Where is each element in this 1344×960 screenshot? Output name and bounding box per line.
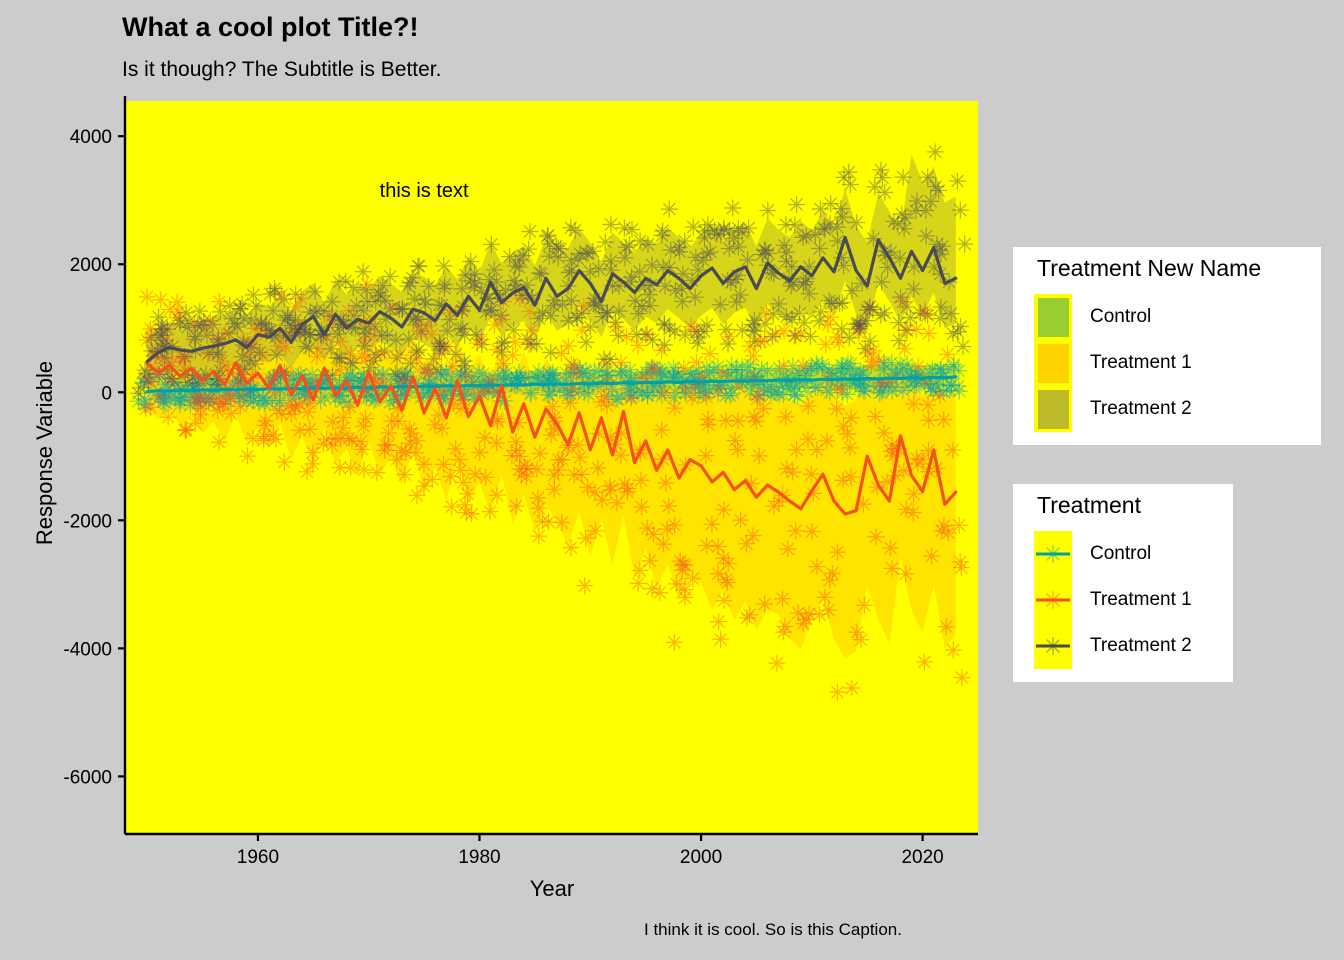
asterisk-point-icon xyxy=(410,341,427,358)
asterisk-point-icon xyxy=(518,468,535,485)
asterisk-point-icon xyxy=(488,434,505,451)
asterisk-point-icon xyxy=(641,552,658,569)
asterisk-point-icon xyxy=(248,298,265,315)
asterisk-point-icon xyxy=(714,365,731,382)
asterisk-point-icon xyxy=(867,408,884,425)
asterisk-point-icon xyxy=(562,219,579,236)
asterisk-point-icon xyxy=(368,464,385,481)
asterisk-point-icon xyxy=(848,214,865,231)
fill-legend[interactable]: Treatment New Name ControlTreatment 1Tre… xyxy=(1013,247,1321,445)
asterisk-point-icon xyxy=(812,303,829,320)
asterisk-point-icon xyxy=(413,323,430,340)
asterisk-point-icon xyxy=(396,466,413,483)
asterisk-point-icon xyxy=(357,325,374,342)
asterisk-point-icon xyxy=(594,491,611,508)
asterisk-point-icon xyxy=(541,236,558,253)
asterisk-point-icon xyxy=(856,597,873,614)
asterisk-point-icon xyxy=(764,328,781,345)
asterisk-point-icon xyxy=(569,251,586,268)
asterisk-point-icon xyxy=(332,333,349,350)
asterisk-point-icon xyxy=(939,346,956,363)
asterisk-point-icon xyxy=(530,528,547,545)
asterisk-point-icon xyxy=(287,286,304,303)
line-point-key-icon xyxy=(1034,577,1072,623)
fill-swatch-icon xyxy=(1038,390,1069,429)
asterisk-point-icon xyxy=(468,326,485,343)
asterisk-point-icon xyxy=(657,474,674,491)
asterisk-point-icon xyxy=(540,513,557,530)
asterisk-point-icon xyxy=(688,323,705,340)
asterisk-point-icon xyxy=(176,422,193,439)
asterisk-point-icon xyxy=(905,396,922,413)
asterisk-point-icon xyxy=(462,253,479,270)
asterisk-point-icon xyxy=(447,440,464,457)
line-point-key-icon xyxy=(1034,531,1072,577)
asterisk-point-icon xyxy=(951,517,968,534)
asterisk-point-icon xyxy=(397,444,414,461)
asterisk-point-icon xyxy=(511,259,528,276)
asterisk-point-icon xyxy=(251,344,268,361)
asterisk-point-icon xyxy=(675,556,692,573)
asterisk-point-icon xyxy=(872,161,889,178)
fill-legend-label: Control xyxy=(1090,306,1151,328)
asterisk-point-icon xyxy=(719,574,736,591)
asterisk-point-icon xyxy=(677,327,694,344)
asterisk-point-icon xyxy=(917,202,934,219)
asterisk-point-icon xyxy=(795,276,812,293)
asterisk-point-icon xyxy=(420,278,437,295)
asterisk-point-icon xyxy=(493,335,510,352)
asterisk-point-icon xyxy=(178,304,195,321)
asterisk-point-icon xyxy=(839,425,856,442)
y-axis-title: Response Variable xyxy=(32,293,58,613)
asterisk-point-icon xyxy=(599,304,616,321)
asterisk-point-icon xyxy=(822,215,839,232)
asterisk-point-icon xyxy=(873,274,890,291)
asterisk-point-icon xyxy=(355,418,372,435)
asterisk-point-icon xyxy=(597,234,614,251)
asterisk-point-icon xyxy=(439,322,456,339)
asterisk-point-icon xyxy=(721,222,738,239)
asterisk-point-icon xyxy=(802,328,819,345)
asterisk-point-icon xyxy=(786,216,803,233)
asterisk-point-icon xyxy=(715,592,732,609)
asterisk-point-icon xyxy=(824,565,841,582)
asterisk-point-icon xyxy=(580,386,597,403)
asterisk-point-icon xyxy=(477,469,494,486)
asterisk-point-icon xyxy=(766,498,783,515)
asterisk-point-icon xyxy=(795,357,812,374)
asterisk-point-icon xyxy=(834,294,851,311)
asterisk-point-icon xyxy=(602,253,619,270)
fill-legend-row[interactable]: Treatment 1 xyxy=(1034,340,1192,386)
asterisk-point-icon xyxy=(354,441,371,458)
asterisk-point-icon xyxy=(803,523,820,540)
asterisk-point-icon xyxy=(897,565,914,582)
asterisk-point-icon xyxy=(301,340,318,357)
asterisk-point-icon xyxy=(702,345,719,362)
asterisk-point-icon xyxy=(876,425,893,442)
colour-legend-label: Treatment 2 xyxy=(1090,635,1192,657)
asterisk-point-icon xyxy=(563,292,580,309)
asterisk-point-icon xyxy=(842,176,859,193)
asterisk-point-icon xyxy=(630,575,647,592)
asterisk-point-icon xyxy=(843,355,860,372)
asterisk-point-icon xyxy=(620,377,637,394)
asterisk-point-icon xyxy=(432,338,449,355)
asterisk-point-icon xyxy=(908,450,925,467)
asterisk-point-icon xyxy=(344,355,361,372)
asterisk-point-icon xyxy=(760,245,777,262)
asterisk-point-icon xyxy=(644,257,661,274)
asterisk-point-icon xyxy=(674,265,691,282)
asterisk-point-icon xyxy=(712,296,729,313)
asterisk-point-icon xyxy=(730,238,747,255)
asterisk-point-icon xyxy=(435,257,452,274)
asterisk-point-icon xyxy=(486,261,503,278)
asterisk-point-icon xyxy=(382,268,399,285)
line-point-key-icon xyxy=(1034,623,1072,669)
asterisk-point-icon xyxy=(918,227,935,244)
asterisk-point-icon xyxy=(434,420,451,437)
asterisk-point-icon xyxy=(565,357,582,374)
asterisk-point-icon xyxy=(876,304,893,321)
asterisk-point-icon xyxy=(179,319,196,336)
asterisk-point-icon xyxy=(740,220,757,237)
asterisk-point-icon xyxy=(489,487,506,504)
asterisk-point-icon xyxy=(239,448,256,465)
asterisk-point-icon xyxy=(741,606,758,623)
asterisk-point-icon xyxy=(342,354,359,371)
asterisk-point-icon xyxy=(814,356,831,373)
asterisk-point-icon xyxy=(610,303,627,320)
fill-legend-label: Treatment 2 xyxy=(1090,398,1192,420)
asterisk-point-icon xyxy=(729,441,746,458)
asterisk-point-icon xyxy=(425,350,442,367)
asterisk-point-icon xyxy=(738,535,755,552)
asterisk-point-icon xyxy=(572,245,589,262)
asterisk-point-icon xyxy=(952,202,969,219)
asterisk-point-icon xyxy=(511,448,528,465)
asterisk-point-icon xyxy=(388,331,405,348)
fill-swatch-icon xyxy=(1038,298,1069,337)
asterisk-point-icon xyxy=(245,286,262,303)
asterisk-point-icon xyxy=(816,589,833,606)
asterisk-point-icon xyxy=(775,358,792,375)
asterisk-point-icon xyxy=(867,528,884,545)
asterisk-point-icon xyxy=(160,409,177,426)
asterisk-point-icon xyxy=(602,351,619,368)
asterisk-point-icon xyxy=(315,303,332,320)
asterisk-point-icon xyxy=(690,262,707,279)
y-tick-label: 2000 xyxy=(70,255,112,276)
asterisk-point-icon xyxy=(920,412,937,429)
asterisk-point-icon xyxy=(389,350,406,367)
asterisk-point-icon xyxy=(843,679,860,696)
asterisk-point-icon xyxy=(578,334,595,351)
fill-legend-row[interactable]: Treatment 2 xyxy=(1034,386,1192,432)
colour-legend-row[interactable]: Treatment 2 xyxy=(1034,623,1192,669)
asterisk-point-icon xyxy=(748,413,765,430)
asterisk-point-icon xyxy=(584,243,601,260)
asterisk-point-icon xyxy=(255,428,272,445)
asterisk-point-icon xyxy=(749,386,766,403)
asterisk-point-icon xyxy=(191,303,208,320)
fill-legend-key xyxy=(1034,386,1072,432)
asterisk-point-icon xyxy=(942,305,959,322)
asterisk-point-icon xyxy=(653,422,670,439)
asterisk-point-icon xyxy=(732,286,749,303)
colour-legend-row[interactable]: Treatment 1 xyxy=(1034,577,1192,623)
asterisk-point-icon xyxy=(531,445,548,462)
colour-legend[interactable]: Treatment ControlTreatment 1Treatment 2 xyxy=(1013,484,1233,682)
asterisk-point-icon xyxy=(457,496,474,513)
asterisk-point-icon xyxy=(152,291,169,308)
asterisk-point-icon xyxy=(919,307,936,324)
asterisk-point-icon xyxy=(897,210,914,227)
fill-legend-label: Treatment 1 xyxy=(1090,352,1192,374)
asterisk-point-icon xyxy=(342,459,359,476)
asterisk-point-icon xyxy=(646,360,663,377)
asterisk-point-icon xyxy=(563,356,580,373)
asterisk-point-icon xyxy=(952,318,969,335)
asterisk-point-icon xyxy=(703,516,720,533)
asterisk-point-icon xyxy=(882,540,899,557)
asterisk-point-icon xyxy=(519,331,536,348)
colour-legend-key xyxy=(1034,531,1072,577)
asterisk-point-icon xyxy=(832,200,849,217)
asterisk-point-icon xyxy=(355,263,372,280)
asterisk-point-icon xyxy=(935,411,952,428)
asterisk-point-icon xyxy=(720,336,737,353)
asterisk-point-icon xyxy=(307,283,324,300)
asterisk-point-icon xyxy=(666,634,683,651)
asterisk-point-icon xyxy=(677,589,694,606)
asterisk-point-icon xyxy=(712,631,729,648)
plot-root: What a cool plot Title?! Is it though? T… xyxy=(0,0,1344,960)
asterisk-point-icon xyxy=(428,361,445,378)
colour-legend-row[interactable]: Control xyxy=(1034,531,1192,577)
asterisk-point-icon xyxy=(666,517,683,534)
asterisk-point-icon xyxy=(443,498,460,515)
asterisk-point-icon xyxy=(496,333,513,350)
asterisk-point-icon xyxy=(777,618,794,635)
asterisk-point-icon xyxy=(655,536,672,553)
asterisk-point-icon xyxy=(377,436,394,453)
asterisk-point-icon xyxy=(223,405,240,422)
asterisk-point-icon xyxy=(380,425,397,442)
asterisk-point-icon xyxy=(523,384,540,401)
asterisk-point-icon xyxy=(424,471,441,488)
asterisk-point-icon xyxy=(717,321,734,338)
asterisk-point-icon xyxy=(411,258,428,275)
asterisk-point-icon xyxy=(610,327,627,344)
asterisk-point-icon xyxy=(447,346,464,363)
fill-legend-title: Treatment New Name xyxy=(1037,255,1261,282)
asterisk-point-icon xyxy=(787,522,804,539)
asterisk-point-icon xyxy=(811,312,828,329)
asterisk-point-icon xyxy=(276,291,293,308)
asterisk-point-icon xyxy=(241,352,258,369)
asterisk-point-icon xyxy=(641,297,658,314)
asterisk-point-icon xyxy=(630,305,647,322)
asterisk-point-icon xyxy=(730,412,747,429)
asterisk-point-icon xyxy=(927,143,944,160)
x-tick-label: 1980 xyxy=(458,847,500,868)
asterisk-point-icon xyxy=(933,522,950,539)
asterisk-point-icon xyxy=(299,463,316,480)
asterisk-point-icon xyxy=(268,402,285,419)
asterisk-point-icon xyxy=(139,288,156,305)
asterisk-point-icon xyxy=(895,169,912,186)
asterisk-point-icon xyxy=(463,506,480,523)
asterisk-point-icon xyxy=(784,464,801,481)
asterisk-point-icon xyxy=(661,201,678,218)
asterisk-point-icon xyxy=(567,222,584,239)
asterisk-point-icon xyxy=(459,485,476,502)
fill-legend-items: ControlTreatment 1Treatment 2 xyxy=(1034,294,1192,432)
asterisk-point-icon xyxy=(841,439,858,456)
asterisk-point-icon xyxy=(483,236,500,253)
asterisk-point-icon xyxy=(956,236,973,253)
asterisk-point-icon xyxy=(531,310,548,327)
asterisk-point-icon xyxy=(416,478,433,495)
asterisk-point-icon xyxy=(210,434,227,451)
asterisk-point-icon xyxy=(866,178,883,195)
asterisk-point-icon xyxy=(457,357,474,374)
asterisk-point-icon xyxy=(572,449,589,466)
asterisk-point-icon xyxy=(834,209,851,226)
asterisk-point-icon xyxy=(504,347,521,364)
asterisk-point-icon xyxy=(919,397,936,414)
asterisk-point-icon xyxy=(676,233,693,250)
asterisk-point-icon xyxy=(345,279,362,296)
asterisk-point-icon xyxy=(795,229,812,246)
asterisk-point-icon xyxy=(553,514,570,531)
asterisk-point-icon xyxy=(776,237,793,254)
asterisk-point-icon xyxy=(666,400,683,417)
asterisk-point-icon xyxy=(818,432,835,449)
asterisk-point-icon xyxy=(952,553,969,570)
asterisk-point-icon xyxy=(374,277,391,294)
asterisk-point-icon xyxy=(674,293,691,310)
asterisk-point-icon xyxy=(774,590,791,607)
asterisk-point-icon xyxy=(811,606,828,623)
asterisk-point-icon xyxy=(243,312,260,329)
asterisk-point-icon xyxy=(508,498,525,515)
asterisk-point-icon xyxy=(590,260,607,277)
asterisk-point-icon xyxy=(616,220,633,237)
asterisk-point-icon xyxy=(529,489,546,506)
asterisk-point-icon xyxy=(787,327,804,344)
asterisk-point-icon xyxy=(544,398,561,415)
y-tick-label: -6000 xyxy=(63,767,112,788)
fill-legend-row[interactable]: Control xyxy=(1034,294,1192,340)
asterisk-point-icon xyxy=(612,354,629,371)
asterisk-point-icon xyxy=(828,400,845,417)
asterisk-point-icon xyxy=(287,399,304,416)
asterisk-point-icon xyxy=(715,550,732,567)
asterisk-point-icon xyxy=(700,416,717,433)
asterisk-point-icon xyxy=(506,272,523,289)
asterisk-point-icon xyxy=(940,524,957,541)
asterisk-point-icon xyxy=(820,602,837,619)
asterisk-point-icon xyxy=(831,295,848,312)
y-tick-label: -4000 xyxy=(63,639,112,660)
asterisk-point-icon xyxy=(684,570,701,587)
x-tick-label: 1960 xyxy=(237,847,279,868)
asterisk-point-icon xyxy=(632,472,649,489)
asterisk-point-icon xyxy=(829,544,846,561)
asterisk-point-icon xyxy=(779,540,796,557)
asterisk-point-icon xyxy=(687,289,704,306)
y-tick-label: 0 xyxy=(101,383,112,404)
asterisk-point-icon xyxy=(356,461,373,478)
asterisk-point-icon xyxy=(137,362,154,379)
asterisk-point-icon xyxy=(570,436,587,453)
asterisk-point-icon xyxy=(388,451,405,468)
asterisk-point-icon xyxy=(821,572,838,589)
asterisk-point-icon xyxy=(622,390,639,407)
asterisk-point-icon xyxy=(599,397,616,414)
colour-legend-key xyxy=(1034,577,1072,623)
asterisk-point-icon xyxy=(550,249,567,266)
asterisk-point-icon xyxy=(808,558,825,575)
asterisk-point-icon xyxy=(298,338,315,355)
asterisk-point-icon xyxy=(717,571,734,588)
asterisk-point-icon xyxy=(515,247,532,264)
asterisk-point-icon xyxy=(751,447,768,464)
asterisk-point-icon xyxy=(739,252,756,269)
asterisk-point-icon xyxy=(843,282,860,299)
asterisk-point-icon xyxy=(435,456,452,473)
asterisk-point-icon xyxy=(808,441,825,458)
asterisk-point-icon xyxy=(917,302,934,319)
chart-panel: this is text400020000-2000-4000-60001960… xyxy=(0,0,1344,960)
asterisk-point-icon xyxy=(639,236,656,253)
asterisk-point-icon xyxy=(698,389,715,406)
x-tick-label: 2000 xyxy=(680,847,722,868)
asterisk-point-icon xyxy=(833,320,850,337)
asterisk-point-icon xyxy=(546,481,563,498)
asterisk-point-icon xyxy=(568,365,585,382)
asterisk-point-icon xyxy=(601,478,618,495)
asterisk-point-icon xyxy=(724,199,741,216)
asterisk-point-icon xyxy=(299,404,316,421)
asterisk-point-icon xyxy=(759,202,776,219)
asterisk-point-icon xyxy=(436,280,453,297)
asterisk-point-icon xyxy=(619,480,636,497)
asterisk-point-icon xyxy=(416,292,433,309)
asterisk-point-icon xyxy=(542,427,559,444)
asterisk-point-icon xyxy=(899,322,916,339)
asterisk-point-icon xyxy=(698,537,715,554)
asterisk-point-icon xyxy=(400,330,417,347)
fill-legend-key xyxy=(1034,294,1072,340)
colour-legend-label: Treatment 1 xyxy=(1090,589,1192,611)
asterisk-point-icon xyxy=(910,358,927,375)
asterisk-point-icon xyxy=(471,444,488,461)
asterisk-point-icon xyxy=(332,430,349,447)
plot-caption: I think it is cool. So is this Caption. xyxy=(644,920,902,940)
asterisk-point-icon xyxy=(301,421,318,438)
asterisk-point-icon xyxy=(409,487,426,504)
x-tick-label: 2020 xyxy=(901,847,943,868)
asterisk-point-icon xyxy=(266,283,283,300)
asterisk-point-icon xyxy=(540,227,557,244)
asterisk-point-icon xyxy=(521,223,538,240)
asterisk-point-icon xyxy=(842,409,859,426)
